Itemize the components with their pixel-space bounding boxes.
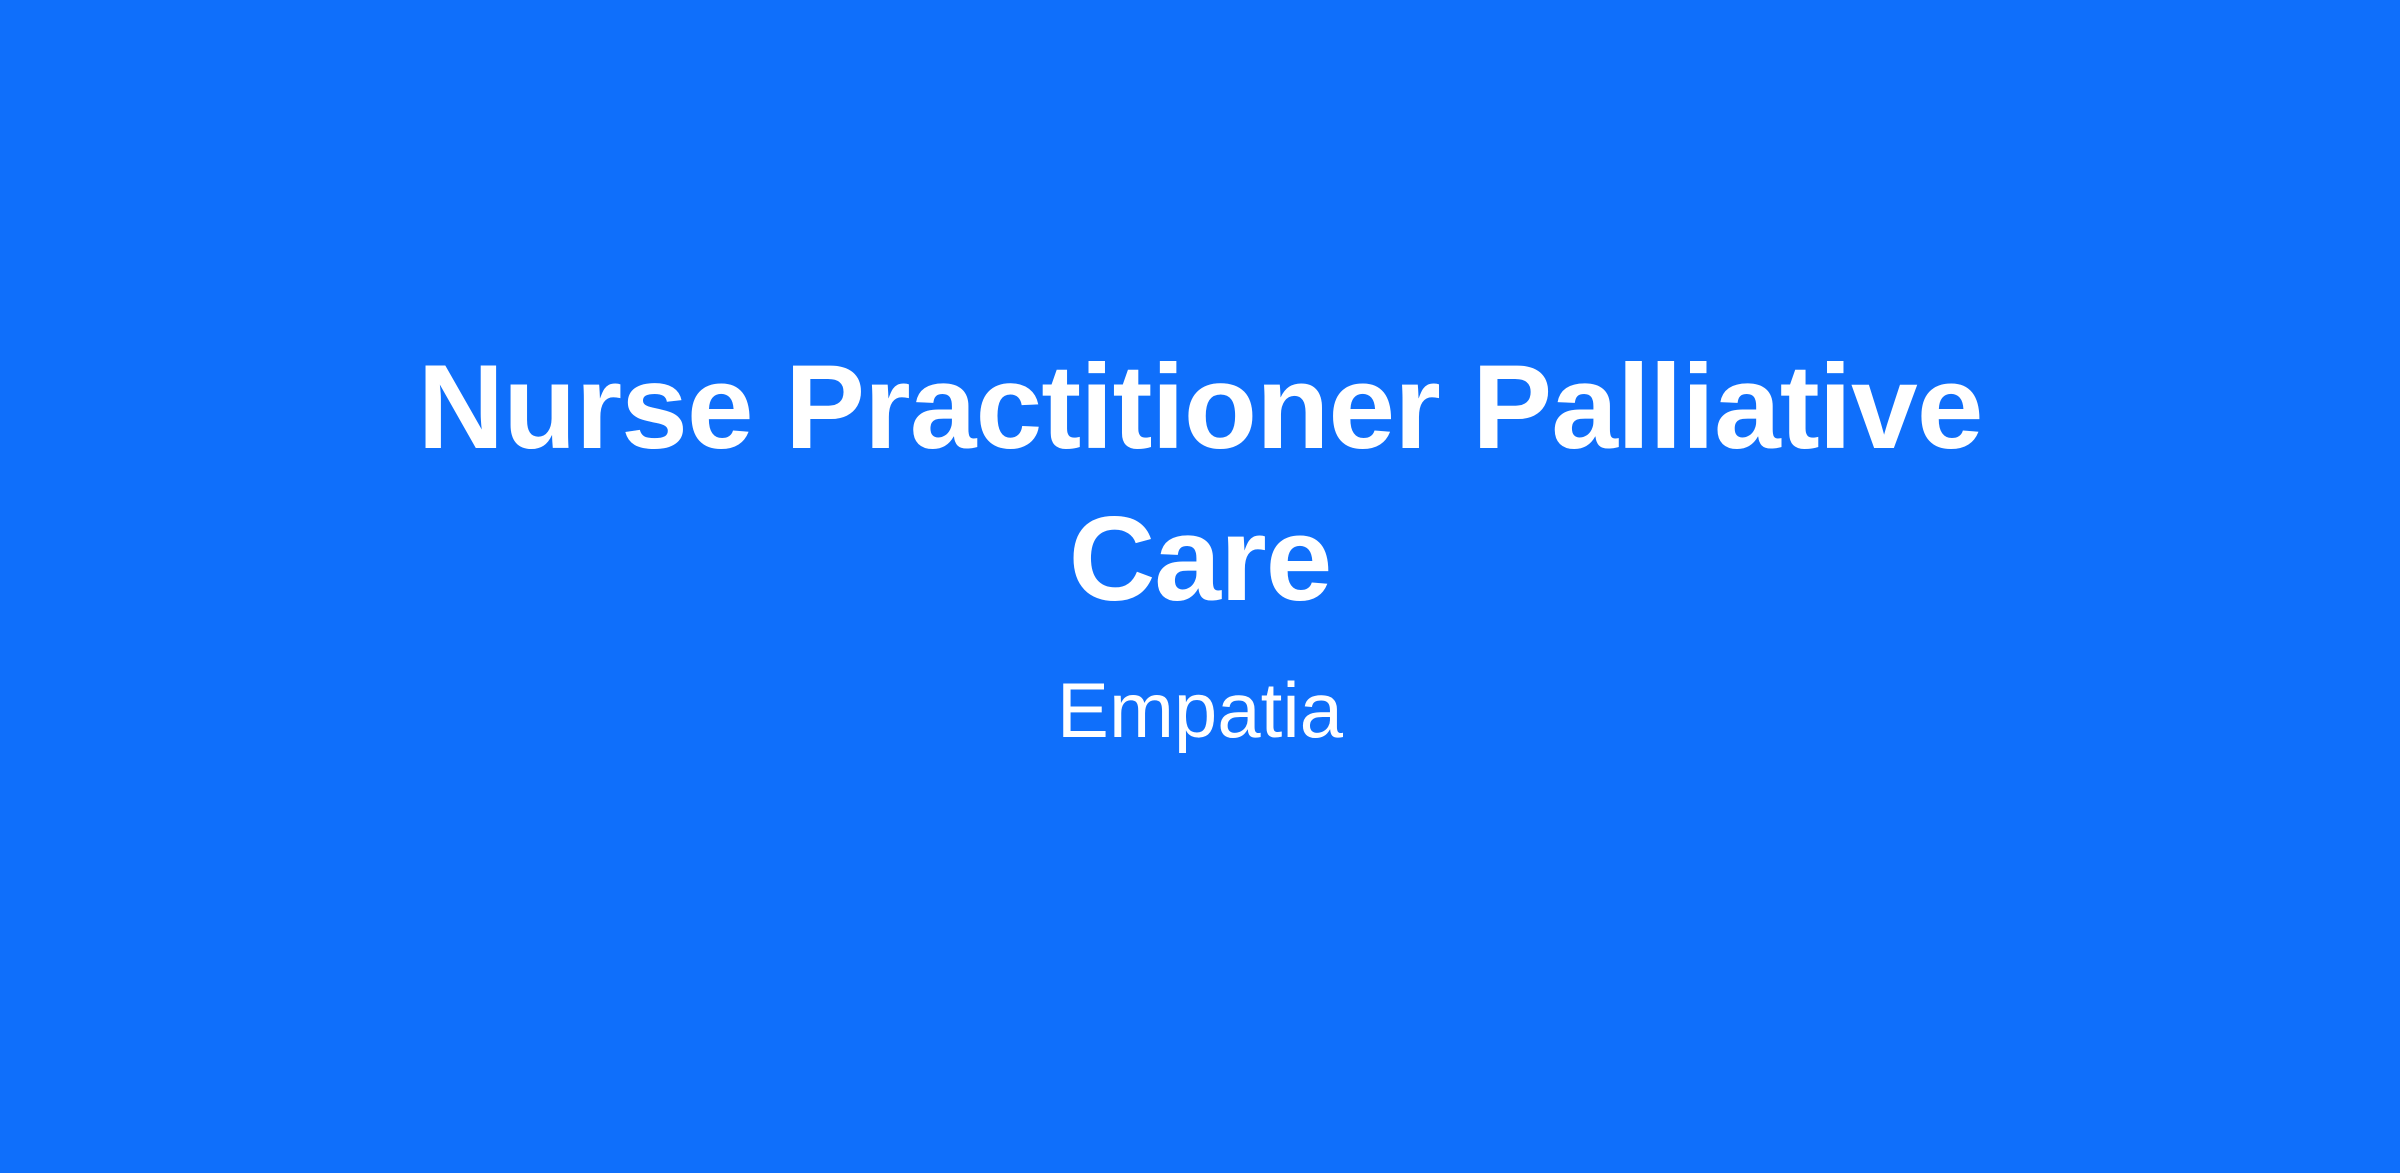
page-subtitle: Empatia <box>1057 664 1343 756</box>
title-slide: Nurse Practitioner Palliative Care Empat… <box>0 0 2400 1173</box>
page-title: Nurse Practitioner Palliative Care <box>390 331 2010 636</box>
title-block: Nurse Practitioner Palliative Care Empat… <box>380 331 2020 756</box>
